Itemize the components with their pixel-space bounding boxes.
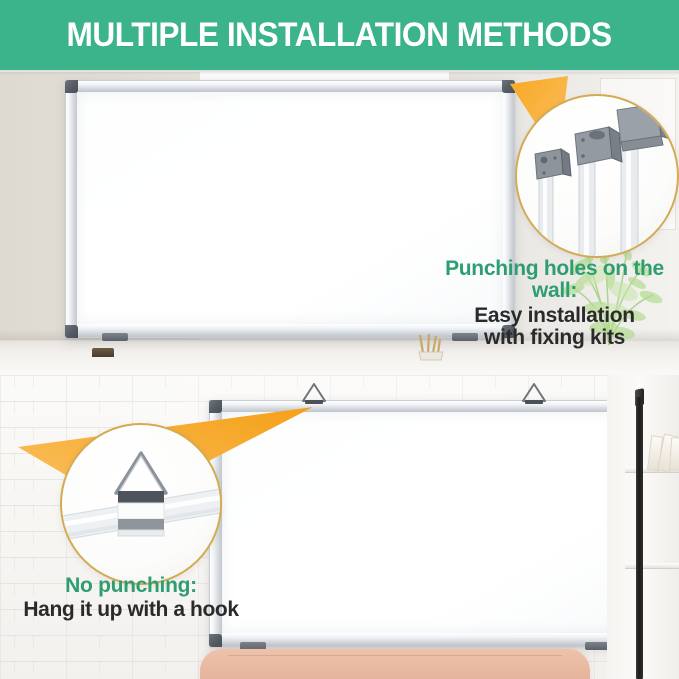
caption-hook-hang: No punching: Hang it up with a hook [6, 575, 256, 622]
hanging-hook-callout [60, 423, 222, 585]
caption-wall-mount: Punching holes on the wall: Easy install… [432, 258, 677, 349]
ledge-object [92, 348, 114, 357]
corner-cap-bottom-left [65, 325, 78, 338]
caption-body-line1-wall-mount: Easy installation [432, 305, 677, 327]
panel-wall-mount: Punching holes on the wall: Easy install… [0, 72, 679, 375]
shelf-board-lower [625, 563, 679, 569]
ladder-shelf-unit [607, 375, 679, 679]
caption-heading-hook-hang: No punching: [6, 575, 256, 597]
corner-cap-top-left [65, 80, 78, 93]
caption-body-line2-wall-mount: with fixing kits [432, 327, 677, 349]
hanging-hook-right [520, 382, 548, 404]
sofa-seam [228, 655, 562, 656]
book-3 [669, 437, 679, 471]
caption-heading-wall-mount: Punching holes on the wall: [432, 258, 677, 303]
panel-hook-hang: No punching: Hang it up with a hook [0, 375, 679, 679]
product-infographic: MULTIPLE INSTALLATION METHODS [0, 0, 679, 679]
shelf-background [607, 375, 679, 679]
blush-sofa [200, 649, 590, 679]
page-title: MULTIPLE INSTALLATION METHODS [67, 16, 612, 55]
shelf-post [636, 397, 643, 679]
pen-tray-clip-left [102, 333, 128, 341]
header-banner: MULTIPLE INSTALLATION METHODS [0, 0, 679, 70]
caption-body-line1-hook-hang: Hang it up with a hook [6, 599, 256, 621]
frame-left [66, 81, 77, 337]
wall-mount-hardware-callout [515, 94, 679, 258]
corner-cap-bottom-left [209, 634, 222, 647]
